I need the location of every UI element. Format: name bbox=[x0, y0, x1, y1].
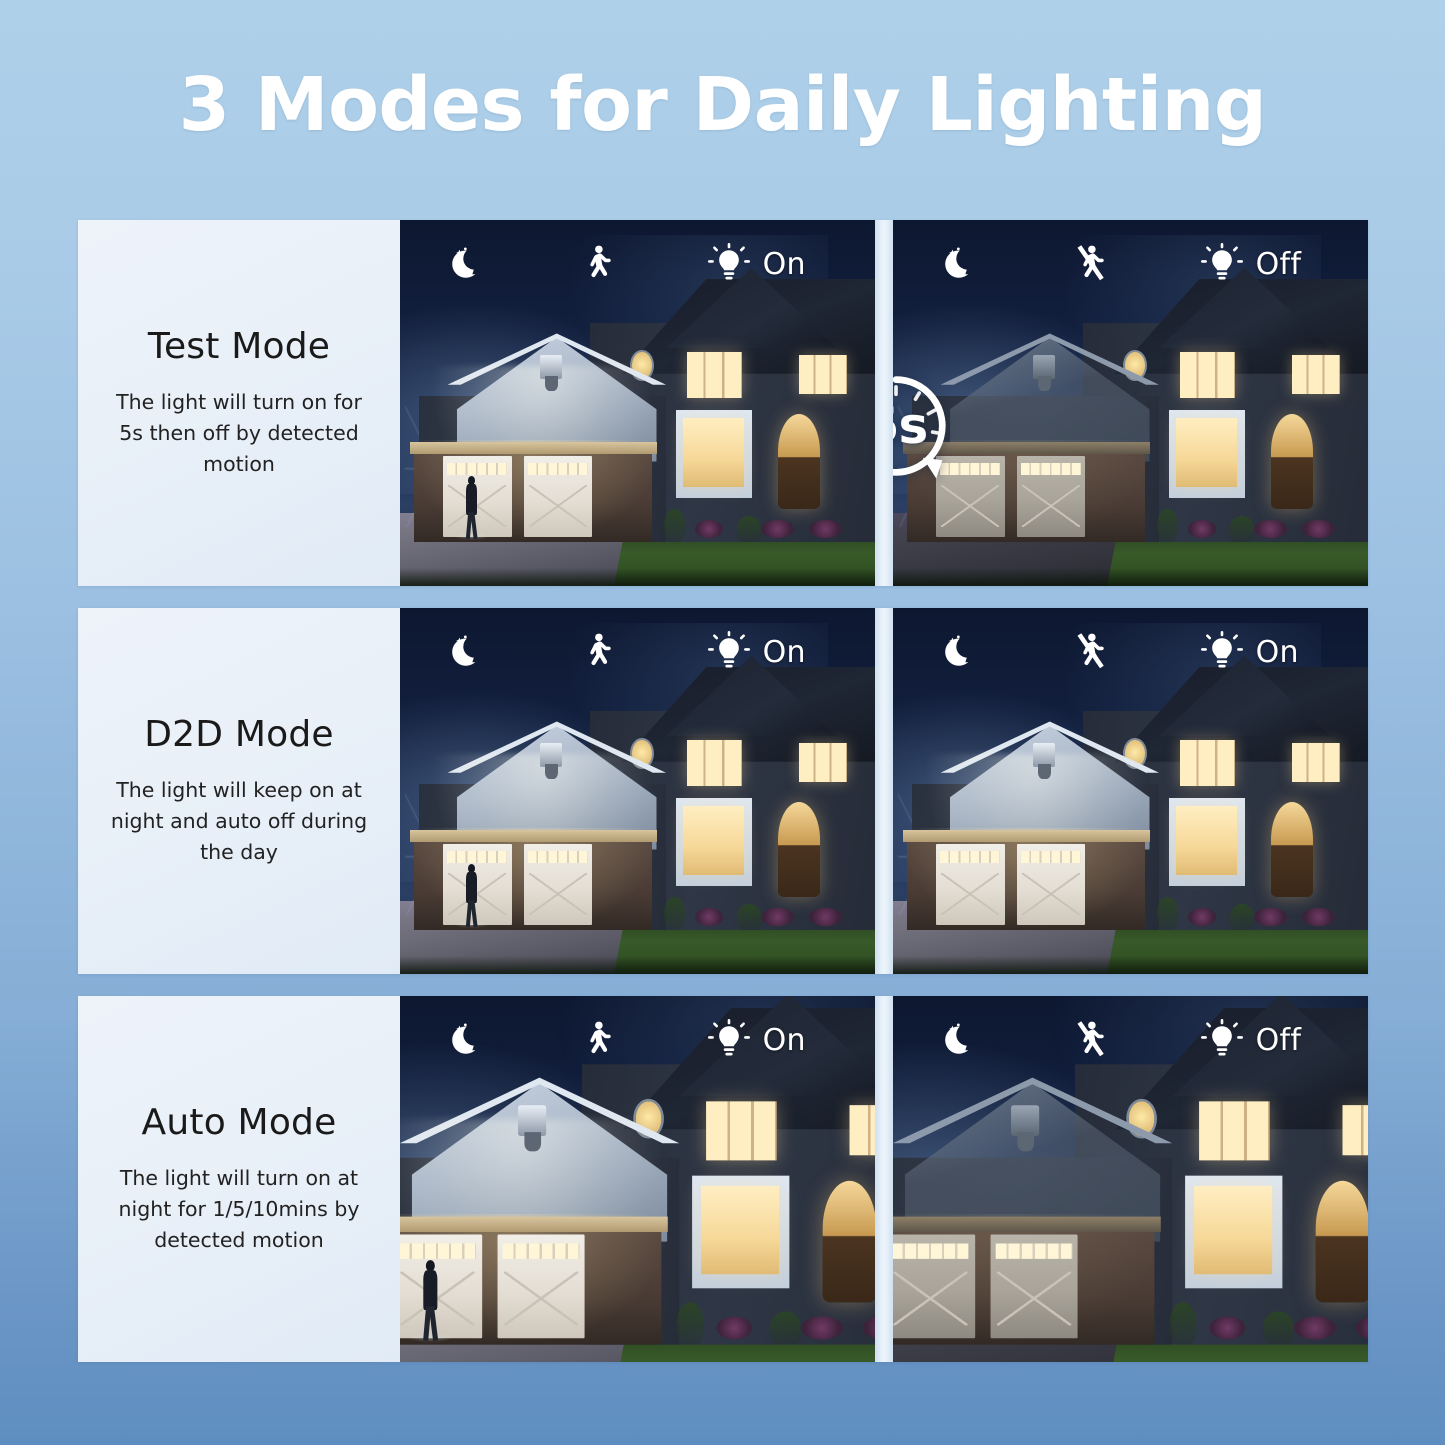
front-door bbox=[778, 414, 821, 509]
mode-title: Test Mode bbox=[148, 326, 330, 367]
shrub-2 bbox=[771, 1312, 801, 1345]
front-door bbox=[822, 1181, 875, 1303]
person-shadow bbox=[454, 921, 489, 928]
lamp-state-indicator: On bbox=[708, 243, 806, 285]
shrub-2 bbox=[1230, 516, 1254, 542]
lamp-state-label: On bbox=[763, 635, 806, 670]
garage-door-right bbox=[1017, 456, 1086, 537]
window-upper-left bbox=[1200, 1101, 1270, 1160]
mode-photo-group: On bbox=[400, 608, 1368, 974]
garage-door-brace bbox=[894, 1272, 968, 1326]
lawn-shadow bbox=[893, 956, 1368, 974]
shrub-2 bbox=[737, 904, 761, 930]
front-door bbox=[1315, 1181, 1368, 1303]
window-upper-right bbox=[799, 743, 847, 781]
timer-value: 5s bbox=[893, 397, 927, 455]
mode-description: The light will turn on at night for 1/5/… bbox=[108, 1163, 370, 1256]
status-icon-bar: On bbox=[893, 608, 1368, 696]
mode-text-panel: Test Mode The light will turn on for 5s … bbox=[78, 220, 400, 586]
garage-door-brace bbox=[1022, 485, 1080, 527]
shrub-1 bbox=[1157, 897, 1178, 930]
garage-door-panes bbox=[1021, 851, 1082, 864]
mode-description: The light will turn on for 5s then off b… bbox=[108, 387, 370, 480]
garage-eave-light bbox=[893, 1216, 1160, 1232]
shrub-1 bbox=[664, 509, 685, 542]
walking-person-figure bbox=[421, 1260, 440, 1340]
walking-person-slashed-icon bbox=[1070, 630, 1110, 674]
night-indicator bbox=[938, 243, 980, 285]
garage-door-panes bbox=[528, 851, 589, 864]
bay-window-glass bbox=[683, 806, 745, 876]
mode-title: D2D Mode bbox=[144, 714, 333, 755]
garage-door-left bbox=[893, 1235, 975, 1338]
garage-eave-light bbox=[903, 830, 1150, 842]
lawn-shadow bbox=[400, 568, 875, 586]
motion-indicator bbox=[577, 1018, 617, 1062]
walking-person-icon bbox=[577, 630, 617, 674]
window-upper-right bbox=[1292, 743, 1340, 781]
lawn-shadow bbox=[893, 568, 1368, 586]
mode-photo-group: On bbox=[400, 996, 1368, 1362]
night-indicator bbox=[445, 1019, 487, 1061]
lamp-state-indicator: On bbox=[708, 631, 806, 673]
mode-description: The light will keep on at night and auto… bbox=[108, 775, 370, 868]
shrub-2 bbox=[737, 516, 761, 542]
security-light-head bbox=[1018, 1132, 1034, 1152]
moon-stars-icon bbox=[938, 631, 980, 673]
person-body bbox=[466, 484, 478, 515]
garage-door-panes bbox=[940, 851, 1001, 864]
garage-door-panes bbox=[528, 463, 589, 476]
lightbulb-rays-icon bbox=[1201, 243, 1243, 285]
shrub-1 bbox=[1157, 509, 1178, 542]
motion-indicator bbox=[577, 242, 617, 286]
window-upper-left bbox=[687, 352, 742, 398]
scene-d2d-mode-on-motion: On bbox=[400, 608, 875, 974]
scene-test-mode-off: Off 5s bbox=[893, 220, 1368, 586]
person-shadow bbox=[408, 1334, 453, 1343]
garage-door-brace bbox=[529, 873, 587, 915]
garage-door-left bbox=[400, 1235, 482, 1338]
shrub-2 bbox=[1230, 904, 1254, 930]
lightbulb-rays-icon bbox=[1201, 1019, 1243, 1061]
lamp-state-indicator: On bbox=[708, 1019, 806, 1061]
shrub-1 bbox=[676, 1303, 703, 1345]
timer-badge: 5s bbox=[893, 365, 957, 487]
motion-indicator bbox=[1070, 242, 1110, 286]
bay-window-glass bbox=[683, 418, 745, 488]
bay-window-glass bbox=[1176, 806, 1238, 876]
shrub-2 bbox=[1264, 1312, 1294, 1345]
garage-door-panes bbox=[893, 1243, 969, 1259]
mode-text-panel: Auto Mode The light will turn on at nigh… bbox=[78, 996, 400, 1362]
scene-auto-mode-on: On bbox=[400, 996, 875, 1362]
bay-window-glass bbox=[1176, 418, 1238, 488]
lightbulb-rays-icon bbox=[1201, 631, 1243, 673]
moon-stars-icon bbox=[445, 243, 487, 285]
shrub-1 bbox=[1169, 1303, 1196, 1345]
bay-window-glass bbox=[701, 1185, 780, 1274]
shrub-1 bbox=[664, 897, 685, 930]
moon-stars-icon bbox=[445, 1019, 487, 1061]
mode-row-d2d: D2D Mode The light will keep on at night… bbox=[78, 608, 1368, 974]
front-door bbox=[1271, 414, 1314, 509]
lightbulb-rays-icon bbox=[708, 243, 750, 285]
mode-text-panel: D2D Mode The light will keep on at night… bbox=[78, 608, 400, 974]
night-indicator bbox=[445, 631, 487, 673]
status-icon-bar: On bbox=[400, 220, 875, 308]
status-icon-bar: Off bbox=[893, 996, 1368, 1084]
garage-door-brace bbox=[941, 485, 999, 527]
page-title: 3 Modes for Daily Lighting bbox=[0, 62, 1445, 148]
photo-divider bbox=[875, 220, 893, 586]
garage-door-brace bbox=[997, 1272, 1071, 1326]
lamp-state-label: On bbox=[763, 247, 806, 282]
person-shadow bbox=[454, 533, 489, 540]
status-icon-bar: On bbox=[400, 608, 875, 696]
walking-person-figure bbox=[464, 476, 479, 538]
walking-person-icon bbox=[577, 242, 617, 286]
motion-indicator bbox=[577, 630, 617, 674]
window-upper-right bbox=[850, 1106, 875, 1155]
lamp-state-indicator: Off bbox=[1201, 1019, 1302, 1061]
walking-person-figure bbox=[464, 864, 479, 926]
moon-stars-icon bbox=[938, 1019, 980, 1061]
lamp-state-label: Off bbox=[1256, 247, 1302, 282]
security-light-head bbox=[1038, 764, 1050, 779]
lamp-state-indicator: Off bbox=[1201, 243, 1302, 285]
status-icon-bar: On bbox=[400, 996, 875, 1084]
status-icon-bar: Off bbox=[893, 220, 1368, 308]
security-light-head bbox=[545, 764, 557, 779]
garage-door-right bbox=[990, 1235, 1078, 1338]
garage-door-panes bbox=[502, 1243, 580, 1259]
mode-title: Auto Mode bbox=[142, 1102, 337, 1143]
window-upper-right bbox=[1343, 1106, 1368, 1155]
infographic-page: 3 Modes for Daily Lighting Test Mode The… bbox=[0, 0, 1445, 1445]
window-upper-left bbox=[687, 740, 742, 786]
garage-eave-light bbox=[410, 442, 657, 454]
lamp-state-label: On bbox=[763, 1023, 806, 1058]
window-upper-left bbox=[1180, 740, 1235, 786]
garage-door-panes bbox=[1021, 463, 1082, 476]
window-upper-left bbox=[707, 1101, 777, 1160]
front-door bbox=[1271, 802, 1314, 897]
mode-row-test: Test Mode The light will turn on for 5s … bbox=[78, 220, 1368, 586]
window-upper-right bbox=[1292, 355, 1340, 393]
motion-indicator bbox=[1070, 1018, 1110, 1062]
motion-indicator bbox=[1070, 630, 1110, 674]
lamp-state-indicator: On bbox=[1201, 631, 1299, 673]
night-indicator bbox=[445, 243, 487, 285]
lawn-shadow bbox=[400, 956, 875, 974]
mode-photo-group: On bbox=[400, 220, 1368, 586]
night-indicator bbox=[938, 631, 980, 673]
garage-door-right bbox=[497, 1235, 585, 1338]
garage-door-brace bbox=[1022, 873, 1080, 915]
front-door bbox=[778, 802, 821, 897]
scene-auto-mode-off: Off bbox=[893, 996, 1368, 1362]
garage-door-brace bbox=[504, 1272, 578, 1326]
lamp-state-label: On bbox=[1256, 635, 1299, 670]
walking-person-icon bbox=[577, 1018, 617, 1062]
garage-eave-light bbox=[400, 1216, 667, 1232]
garage-eave-light bbox=[410, 830, 657, 842]
garage-door-right bbox=[524, 456, 593, 537]
security-light-head bbox=[1038, 376, 1050, 391]
garage-door-panes bbox=[447, 463, 508, 476]
scene-test-mode-on: On bbox=[400, 220, 875, 586]
window-upper-left bbox=[1180, 352, 1235, 398]
lamp-state-label: Off bbox=[1256, 1023, 1302, 1058]
window-upper-right bbox=[799, 355, 847, 393]
garage-door-brace bbox=[529, 485, 587, 527]
walking-person-slashed-icon bbox=[1070, 1018, 1110, 1062]
garage-door-right bbox=[1017, 844, 1086, 925]
photo-divider bbox=[875, 608, 893, 974]
moon-stars-icon bbox=[938, 243, 980, 285]
moon-stars-icon bbox=[445, 631, 487, 673]
garage-door-right bbox=[524, 844, 593, 925]
walking-person-slashed-icon bbox=[1070, 242, 1110, 286]
garage-door-panes bbox=[400, 1243, 476, 1259]
person-body bbox=[466, 872, 478, 903]
mode-row-auto: Auto Mode The light will turn on at nigh… bbox=[78, 996, 1368, 1362]
security-light-head bbox=[525, 1132, 541, 1152]
scene-d2d-mode-on-nomotion: On bbox=[893, 608, 1368, 974]
person-body bbox=[423, 1270, 438, 1310]
lightbulb-rays-icon bbox=[708, 631, 750, 673]
lightbulb-rays-icon bbox=[708, 1019, 750, 1061]
photo-divider bbox=[875, 996, 893, 1362]
night-indicator bbox=[938, 1019, 980, 1061]
garage-door-brace bbox=[941, 873, 999, 915]
security-light-head bbox=[545, 376, 557, 391]
garage-door-left bbox=[936, 844, 1005, 925]
garage-door-panes bbox=[995, 1243, 1073, 1259]
garage-door-panes bbox=[447, 851, 508, 864]
bay-window-glass bbox=[1194, 1185, 1273, 1274]
